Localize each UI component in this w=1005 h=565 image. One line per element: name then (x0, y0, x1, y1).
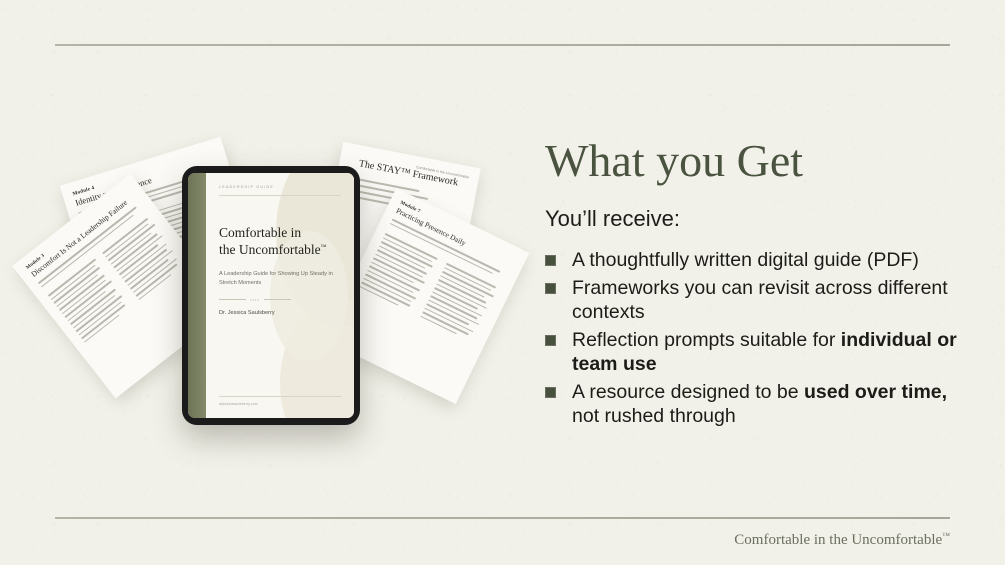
cover-title-line-2: the Uncomfortable (219, 242, 321, 257)
list-item: Reflection prompts suitable for individu… (545, 328, 965, 377)
product-mockup: Module 4 Identity vs. Experience (0, 120, 520, 450)
cover-website: drjessicasaulsberry.com (219, 402, 341, 406)
ebook-cover: LEADERSHIP GUIDE Comfortable in the Unco… (206, 173, 354, 418)
top-divider-rule (55, 44, 950, 46)
bullet-square-icon (545, 283, 556, 294)
footer-brand-text: Comfortable in the Uncomfortable (734, 532, 942, 548)
cover-bottom-rule (219, 396, 341, 397)
cover-top-rule (219, 195, 341, 196)
cover-title: Comfortable in the Uncomfortable™ (219, 224, 341, 259)
content-panel: What you Get You’ll receive: A thoughtfu… (545, 138, 965, 432)
cover-eyebrow: LEADERSHIP GUIDE (219, 185, 341, 189)
cover-footer: drjessicasaulsberry.com (219, 396, 341, 406)
worksheet-columns (45, 211, 189, 345)
cover-divider-dots: •••• (250, 297, 260, 302)
footer-trademark: ™ (942, 531, 950, 540)
lede-text: You’ll receive: (545, 206, 965, 232)
bullet-square-icon (545, 335, 556, 346)
cover-divider-line-left (219, 299, 246, 300)
cover-subtitle: A Leadership Guide for Showing Up Steady… (219, 270, 341, 288)
tablet-screen: LEADERSHIP GUIDE Comfortable in the Unco… (188, 173, 354, 418)
cover-title-tm: ™ (321, 245, 327, 251)
list-item: A thoughtfully written digital guide (PD… (545, 248, 965, 273)
list-item: A resource designed to be used over time… (545, 380, 965, 429)
deliverables-list: A thoughtfully written digital guide (PD… (545, 248, 965, 429)
list-item-text: Frameworks you can revisit across differ… (572, 277, 948, 324)
list-item-text: A resource designed to be (572, 381, 804, 403)
footer-brand: Comfortable in the Uncomfortable™ (734, 531, 950, 549)
book-spine (188, 173, 206, 418)
bullet-square-icon (545, 255, 556, 266)
cover-author: Dr. Jessica Saulsberry (219, 310, 341, 316)
cover-title-line-1: Comfortable in (219, 225, 301, 240)
cover-divider-line-right (264, 299, 291, 300)
bottom-divider-rule (55, 517, 950, 519)
bullet-square-icon (545, 387, 556, 398)
page-title: What you Get (545, 138, 965, 184)
list-item-emphasis: used over time, (804, 381, 947, 403)
cover-divider: •••• (219, 297, 291, 302)
list-item: Frameworks you can revisit across differ… (545, 276, 965, 325)
list-item-text-tail: not rushed through (572, 405, 736, 427)
list-item-text: A thoughtfully written digital guide (PD… (572, 249, 919, 271)
tablet-device: LEADERSHIP GUIDE Comfortable in the Unco… (182, 166, 360, 425)
list-item-text: Reflection prompts suitable for (572, 329, 841, 351)
